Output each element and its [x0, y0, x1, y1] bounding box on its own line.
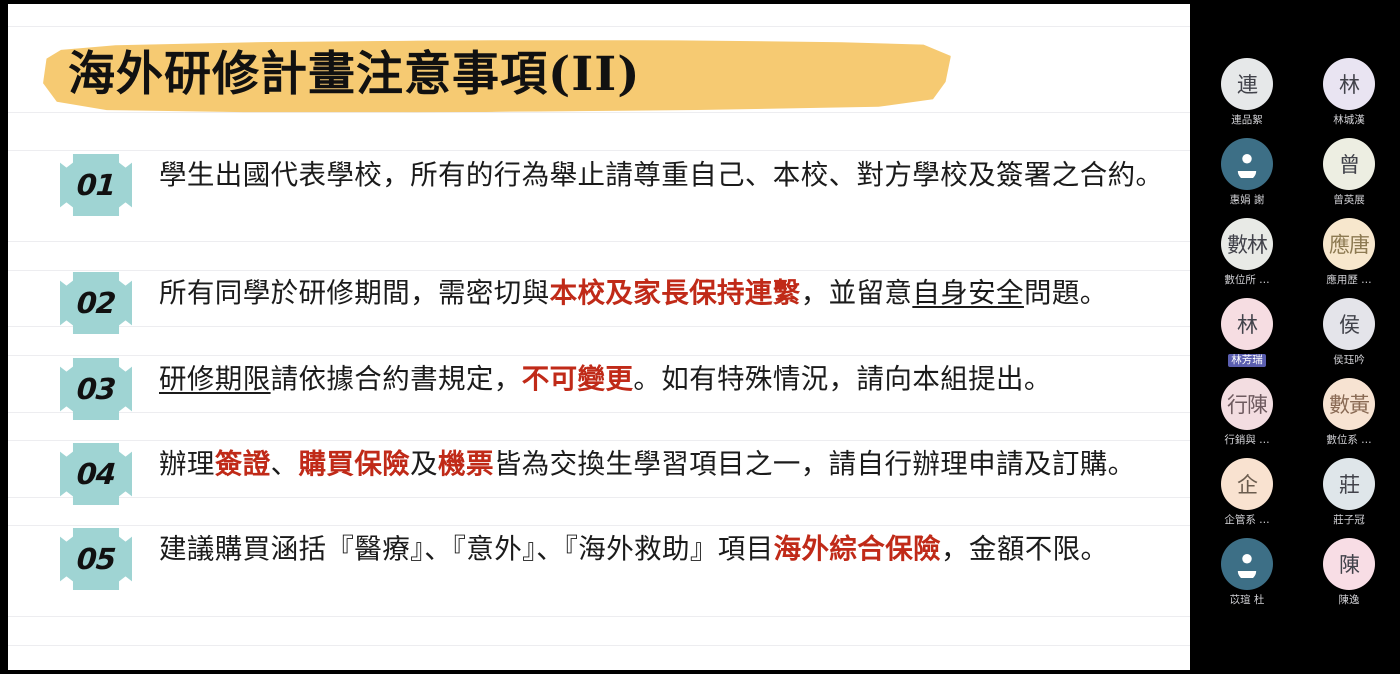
shared-slide: 海外研修計畫注意事項(II) 01學生出國代表學校，所有的行為舉止請尊重自己、本… — [8, 4, 1190, 670]
text-run-underline: 自身安全 — [912, 277, 1024, 309]
item-number-badge: 04 — [60, 443, 132, 505]
item-number: 01 — [58, 154, 134, 216]
participant-avatar: 林 — [1323, 58, 1375, 110]
participant-row: 數林數位所 …應唐應用歷 … — [1196, 218, 1400, 298]
participant-avatar: 數林 — [1221, 218, 1273, 270]
item-text: 辦理簽證、購買保險及機票皆為交換生學習項目之一，請自行辦理申請及訂購。 — [159, 441, 1168, 488]
participant-name: 林芳瑞 — [1228, 354, 1266, 367]
text-run-normal: 及 — [410, 448, 438, 480]
text-run-normal: 辦理 — [159, 448, 215, 480]
text-run-red: 不可變更 — [522, 363, 634, 395]
participant-row: 行陳行銷與 …數黃數位系 … — [1196, 378, 1400, 458]
text-run-red: 簽證 — [215, 448, 271, 480]
participant-name: 行銷與 … — [1221, 434, 1272, 447]
participant-row: 林林芳瑞侯侯珏吟 — [1196, 298, 1400, 378]
participant-avatar: 侯 — [1323, 298, 1375, 350]
participant-name: 應用歷 … — [1323, 274, 1374, 287]
notice-item: 04辦理簽證、購買保險及機票皆為交換生學習項目之一，請自行辦理申請及訂購。 — [8, 441, 1190, 505]
participant-tile[interactable]: 陳陳逸 — [1308, 538, 1390, 618]
participant-name: 侯珏吟 — [1330, 354, 1368, 367]
participant-name: 連品絮 — [1228, 114, 1266, 127]
participant-avatar: 莊 — [1323, 458, 1375, 510]
participant-tile[interactable]: 數林數位所 … — [1206, 218, 1288, 298]
participant-tile[interactable]: 應唐應用歷 … — [1308, 218, 1390, 298]
participant-avatar: 數黃 — [1323, 378, 1375, 430]
text-run-underline: 研修期限 — [159, 363, 271, 395]
participant-row: 惠娟 謝曾曾英展 — [1196, 138, 1400, 218]
participant-avatar: 企 — [1221, 458, 1273, 510]
participant-row: 連連品絮林林城漢 — [1196, 58, 1400, 138]
participant-avatar: 行陳 — [1221, 378, 1273, 430]
item-text: 建議購買涵括『醫療』、『意外』、『海外救助』項目海外綜合保險，金額不限。 — [159, 526, 1168, 573]
text-run-red: 購買保險 — [299, 448, 411, 480]
participant-tile[interactable]: 行陳行銷與 … — [1206, 378, 1288, 458]
item-number: 04 — [58, 443, 134, 505]
participant-name: 數位系 … — [1323, 434, 1374, 447]
page-title: 海外研修計畫注意事項(II) — [68, 38, 640, 112]
item-number-badge: 02 — [60, 272, 132, 334]
text-run-red: 機票 — [438, 448, 494, 480]
text-run-normal: 皆為交換生學習項目之一，請自行辦理申請及訂購。 — [494, 448, 1136, 480]
participant-tile[interactable]: 林林芳瑞 — [1206, 298, 1288, 378]
slide-rule — [8, 645, 1190, 646]
item-number-badge: 03 — [60, 358, 132, 420]
text-run-normal: 問題。 — [1024, 277, 1108, 309]
participant-tile[interactable]: 數黃數位系 … — [1308, 378, 1390, 458]
participant-avatar: 連 — [1221, 58, 1273, 110]
item-text: 學生出國代表學校，所有的行為舉止請尊重自己、本校、對方學校及簽署之合約。 — [159, 152, 1168, 199]
participant-name: 陳逸 — [1336, 594, 1363, 607]
text-run-normal: 請依據合約書規定， — [271, 363, 522, 395]
item-number-badge: 01 — [60, 154, 132, 216]
slide-rule — [8, 616, 1190, 617]
text-run-normal: 所有同學於研修期間，需密切與 — [159, 277, 550, 309]
participant-avatar: 陳 — [1323, 538, 1375, 590]
text-run-red: 本校及家長保持連繫 — [550, 277, 801, 309]
notice-item: 05建議購買涵括『醫療』、『意外』、『海外救助』項目海外綜合保險，金額不限。 — [8, 526, 1190, 590]
person-glyph — [1233, 550, 1261, 578]
participant-avatar: 林 — [1221, 298, 1273, 350]
participant-avatar: 曾 — [1323, 138, 1375, 190]
participant-name: 林城漢 — [1330, 114, 1368, 127]
item-text: 研修期限請依據合約書規定，不可變更。如有特殊情況，請向本組提出。 — [159, 356, 1168, 403]
participant-tile[interactable]: 惠娟 謝 — [1206, 138, 1288, 218]
text-run-normal: 。如有特殊情況，請向本組提出。 — [633, 363, 1052, 395]
item-number-badge: 05 — [60, 528, 132, 590]
participant-avatar: 應唐 — [1323, 218, 1375, 270]
text-run-normal: 學生出國代表學校，所有的行為舉止請尊重自己、本校、對方學校及簽署之合約。 — [159, 159, 1163, 191]
item-number: 05 — [58, 528, 134, 590]
text-run-normal: ，金額不限。 — [941, 533, 1108, 565]
text-run-normal: 、 — [271, 448, 299, 480]
participant-name: 企管系 … — [1221, 514, 1272, 527]
item-text: 所有同學於研修期間，需密切與本校及家長保持連繫，並留意自身安全問題。 — [159, 270, 1168, 317]
notice-item: 01學生出國代表學校，所有的行為舉止請尊重自己、本校、對方學校及簽署之合約。 — [8, 152, 1190, 216]
person-glyph — [1233, 150, 1261, 178]
text-run-normal: ，並留意 — [801, 277, 913, 309]
participant-name: 莊子冠 — [1330, 514, 1368, 527]
participant-tile[interactable]: 苡瑄 杜 — [1206, 538, 1288, 618]
item-number: 03 — [58, 358, 134, 420]
participant-tile[interactable]: 企企管系 … — [1206, 458, 1288, 538]
text-run-red: 海外綜合保險 — [774, 533, 941, 565]
participant-tile[interactable]: 侯侯珏吟 — [1308, 298, 1390, 378]
slide-rule — [8, 150, 1190, 151]
text-run-normal: 建議購買涵括『醫療』、『意外』、『海外救助』項目 — [159, 533, 774, 565]
participant-strip[interactable]: 連連品絮林林城漢惠娟 謝曾曾英展數林數位所 …應唐應用歷 …林林芳瑞侯侯珏吟行陳… — [1196, 0, 1400, 674]
slide-title-block: 海外研修計畫注意事項(II) — [38, 24, 958, 114]
participant-row: 苡瑄 杜陳陳逸 — [1196, 538, 1400, 618]
participant-row: 企企管系 …莊莊子冠 — [1196, 458, 1400, 538]
participant-tile[interactable]: 林林城漢 — [1308, 58, 1390, 138]
notice-item: 02所有同學於研修期間，需密切與本校及家長保持連繫，並留意自身安全問題。 — [8, 270, 1190, 334]
person-avatar-icon — [1221, 538, 1273, 590]
participant-tile[interactable]: 曾曾英展 — [1308, 138, 1390, 218]
notice-item: 03研修期限請依據合約書規定，不可變更。如有特殊情況，請向本組提出。 — [8, 356, 1190, 420]
participant-name: 惠娟 謝 — [1227, 194, 1268, 207]
participant-tile[interactable]: 連連品絮 — [1206, 58, 1288, 138]
slide-rule — [8, 241, 1190, 242]
participant-name: 數位所 … — [1221, 274, 1272, 287]
item-number: 02 — [58, 272, 134, 334]
person-avatar-icon — [1221, 138, 1273, 190]
participant-name: 曾英展 — [1330, 194, 1368, 207]
participant-name: 苡瑄 杜 — [1227, 594, 1268, 607]
participant-tile[interactable]: 莊莊子冠 — [1308, 458, 1390, 538]
